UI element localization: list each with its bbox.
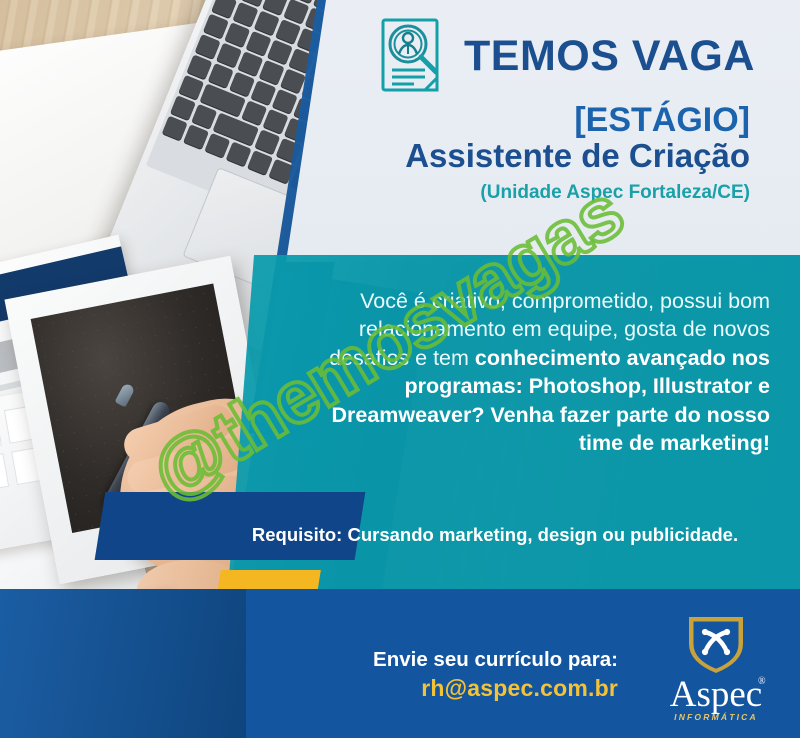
vacancy-role-title: Assistente de Criação [330,138,756,174]
job-vacancy-poster: TEMOS VAGA [ESTÁGIO] Assistente de Criaç… [0,0,800,738]
resume-search-icon [378,16,450,96]
cta-label: Envie seu currículo para: [300,648,618,672]
contact-email[interactable]: rh@aspec.com.br [300,675,618,702]
vacancy-type-label: [ESTÁGIO] [330,102,756,138]
vacancy-unit-label: (Unidade Aspec Fortaleza/CE) [330,182,756,204]
job-description-text: Você é criativo, comprometido, possui bo… [294,287,770,457]
header-title-row: TEMOS VAGA [330,16,756,96]
registered-mark: ® [758,676,766,687]
contact-block: Envie seu currículo para: rh@aspec.com.b… [300,648,618,702]
aspec-shield-icon [686,614,746,676]
footer-left-block [0,589,246,738]
requirement-text: Requisito: Cursando marketing, design ou… [200,524,790,546]
header-content: TEMOS VAGA [ESTÁGIO] Assistente de Criaç… [330,0,800,262]
aspec-tagline: INFORMÁTICA [648,712,784,722]
aspec-logo: Aspec ® INFORMÁTICA [648,614,784,726]
page-title: TEMOS VAGA [464,35,755,78]
